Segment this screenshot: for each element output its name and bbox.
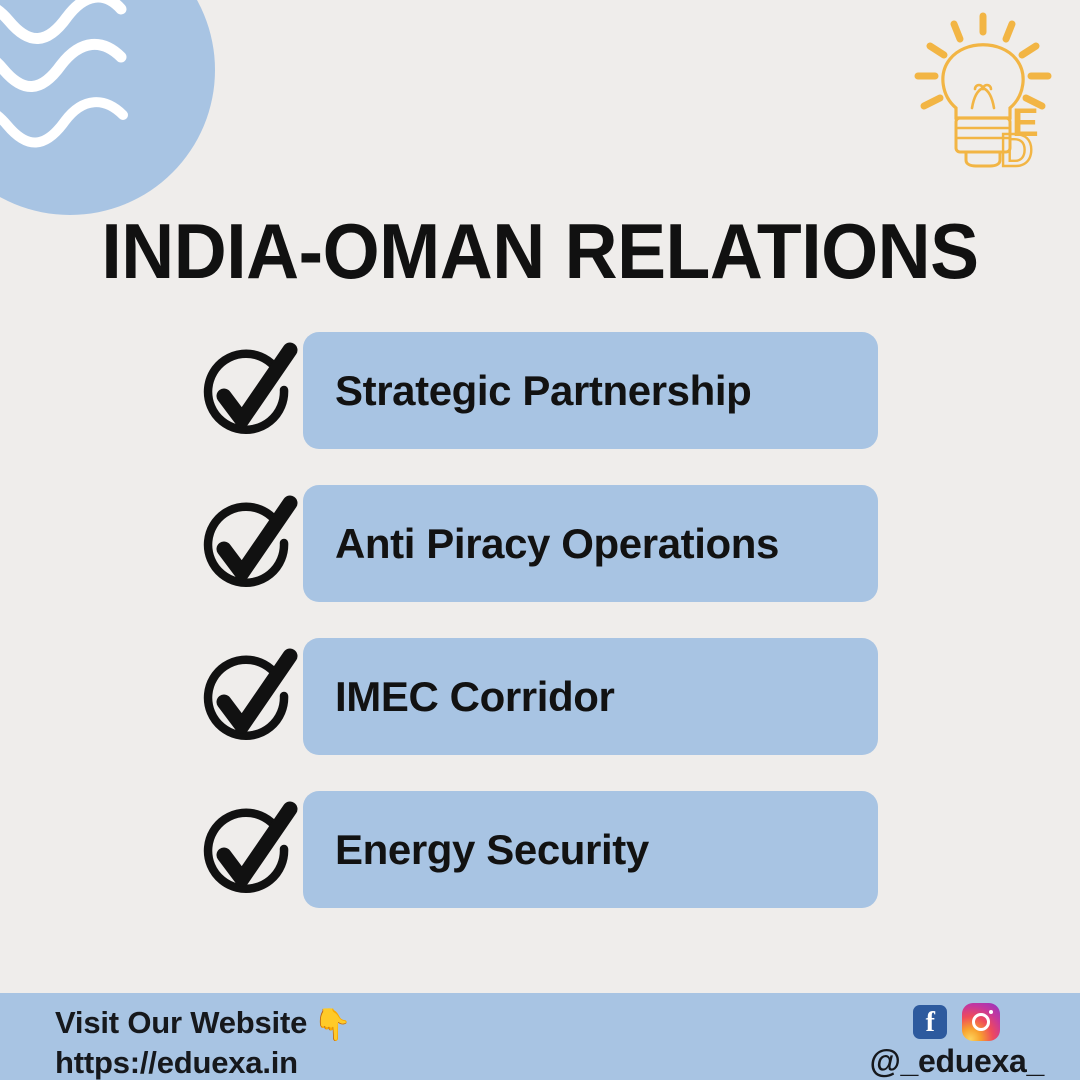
point-pill[interactable]: IMEC Corridor xyxy=(303,638,878,755)
instagram-lens xyxy=(972,1013,990,1031)
check-circle-icon xyxy=(196,338,300,442)
check-circle-icon xyxy=(196,644,300,748)
corner-blob-decoration xyxy=(0,0,215,215)
eduexa-lightbulb-logo: E D xyxy=(908,8,1058,168)
poster-canvas: E D INDIA-OMAN RELATIONS Strategic Partn… xyxy=(0,0,1080,1080)
footer-cta-line: Visit Our Website👇 xyxy=(55,1004,352,1044)
instagram-flash-dot xyxy=(989,1010,993,1014)
pointing-down-icon: 👇 xyxy=(313,1006,351,1044)
social-handle: @_eduexa_ xyxy=(870,1043,1044,1080)
svg-text:D: D xyxy=(1000,124,1033,168)
list-item[interactable]: Energy Security xyxy=(0,791,1080,908)
check-circle-icon xyxy=(196,491,300,595)
point-pill[interactable]: Strategic Partnership xyxy=(303,332,878,449)
point-pill[interactable]: Energy Security xyxy=(303,791,878,908)
point-label: Energy Security xyxy=(335,829,649,871)
facebook-glyph: f xyxy=(926,1009,935,1037)
footer-bar: Visit Our Website👇 https://eduexa.in f @… xyxy=(0,993,1080,1080)
footer-social: f @_eduexa_ xyxy=(870,1002,1044,1080)
footer-cta: Visit Our Website👇 https://eduexa.in xyxy=(55,1004,352,1080)
list-item[interactable]: IMEC Corridor xyxy=(0,638,1080,755)
list-item[interactable]: Strategic Partnership xyxy=(0,332,1080,449)
social-icons-row: f xyxy=(870,1002,1044,1042)
list-item[interactable]: Anti Piracy Operations xyxy=(0,485,1080,602)
facebook-icon[interactable]: f xyxy=(913,1005,947,1039)
page-title: INDIA-OMAN RELATIONS xyxy=(32,206,1047,297)
point-label: Anti Piracy Operations xyxy=(335,523,779,565)
website-url[interactable]: https://eduexa.in xyxy=(55,1044,352,1080)
check-circle-icon xyxy=(196,797,300,901)
instagram-icon[interactable] xyxy=(962,1003,1000,1041)
points-list: Strategic Partnership Anti Piracy Operat… xyxy=(0,332,1080,944)
point-pill[interactable]: Anti Piracy Operations xyxy=(303,485,878,602)
point-label: Strategic Partnership xyxy=(335,370,751,412)
footer-cta-text: Visit Our Website xyxy=(55,1005,307,1040)
point-label: IMEC Corridor xyxy=(335,676,614,718)
